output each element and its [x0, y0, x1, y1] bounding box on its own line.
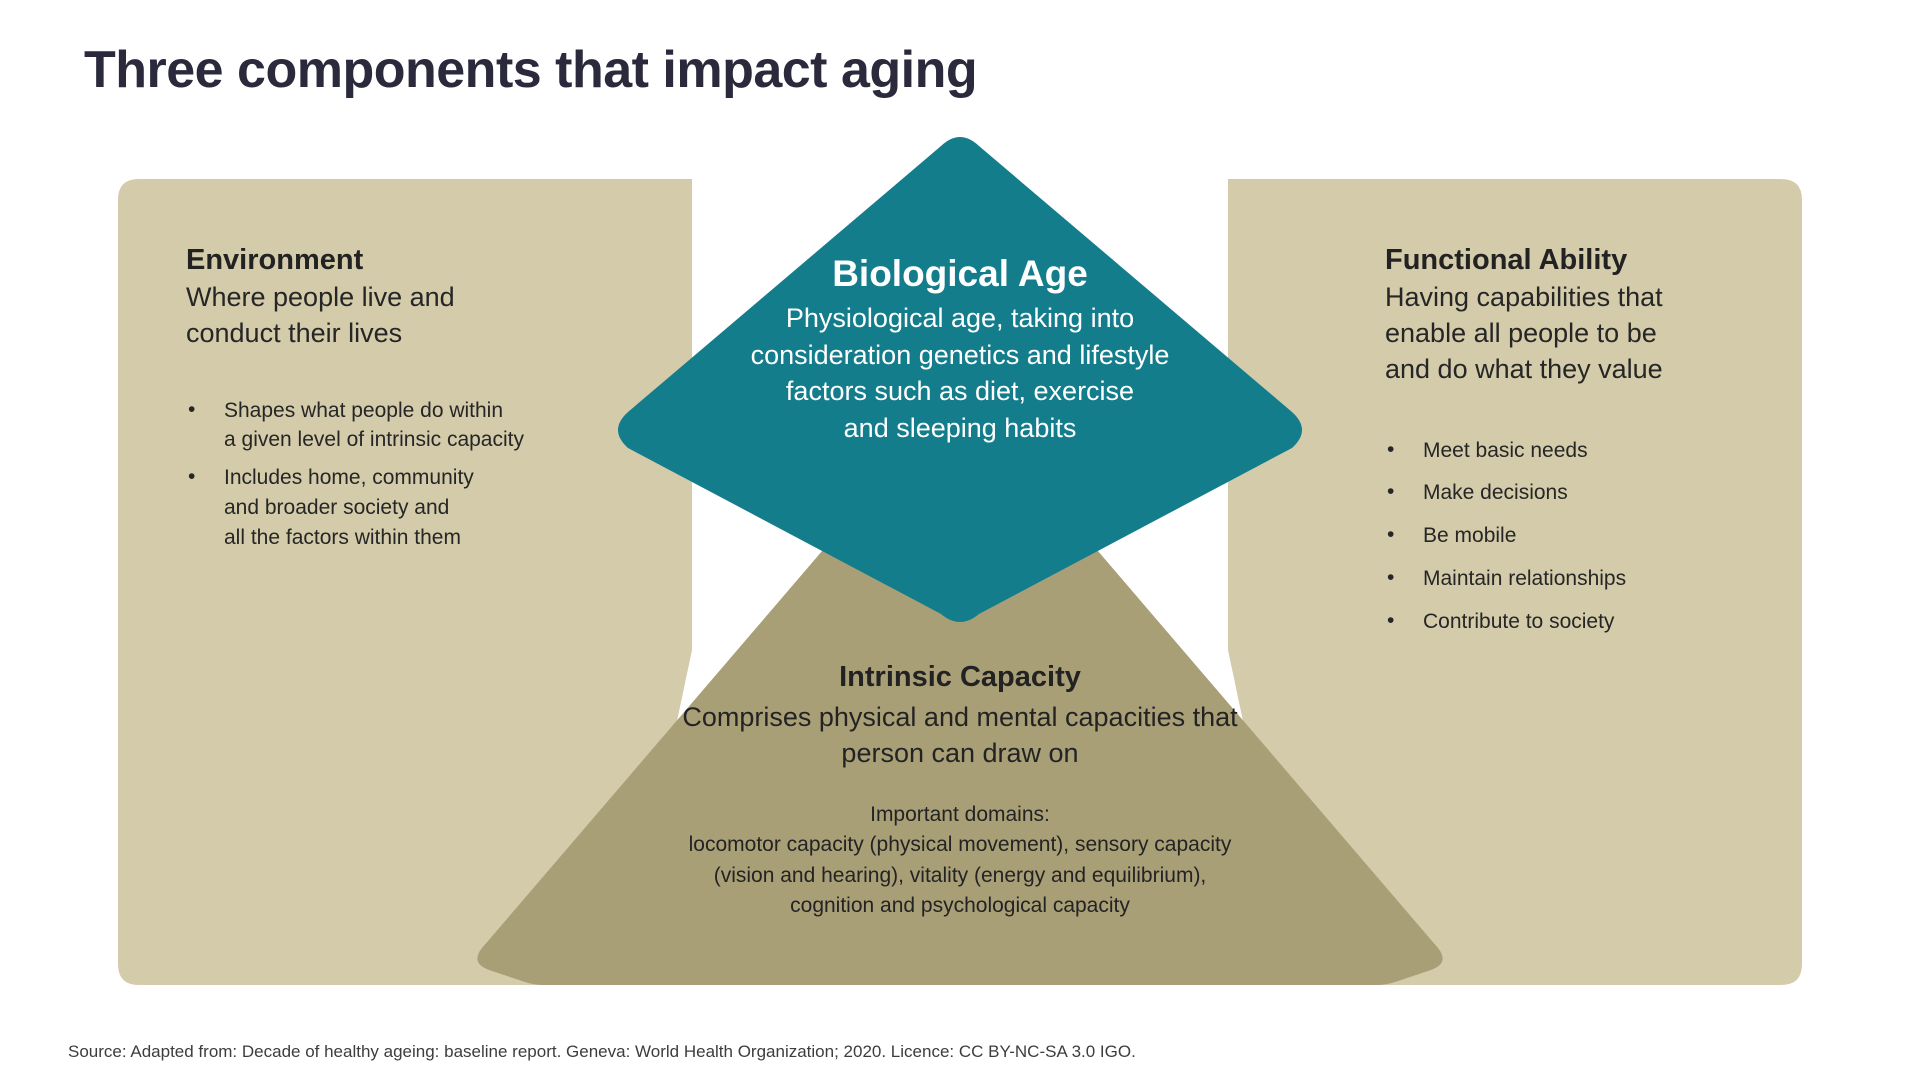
intrinsic-capacity-heading: Intrinsic Capacity [590, 660, 1330, 695]
source-note: Source: Adapted from: Decade of healthy … [68, 1042, 1136, 1062]
biological-age-description: Physiological age, taking into considera… [672, 300, 1248, 446]
list-item: Shapes what people do within a given lev… [186, 396, 606, 456]
list-item: Make decisions [1385, 478, 1785, 508]
list-item: Contribute to society [1385, 607, 1785, 637]
environment-subtitle: Where people live and conduct their live… [186, 280, 606, 352]
environment-heading: Environment [186, 243, 606, 278]
list-item: Meet basic needs [1385, 436, 1785, 466]
functional-ability-subtitle: Having capabilities that enable all peop… [1385, 280, 1785, 388]
functional-ability-bullet-list: Meet basic needs Make decisions Be mobil… [1385, 436, 1785, 637]
intrinsic-capacity-domains-body: locomotor capacity (physical movement), … [590, 830, 1330, 921]
intrinsic-capacity-domains-label: Important domains: [590, 800, 1330, 830]
functional-ability-heading: Functional Ability [1385, 243, 1785, 278]
list-item: Includes home, community and broader soc… [186, 463, 606, 552]
intrinsic-capacity-subtitle: Comprises physical and mental capacities… [590, 699, 1330, 772]
environment-panel: Environment Where people live and conduc… [186, 243, 606, 561]
functional-ability-panel: Functional Ability Having capabilities t… [1385, 243, 1785, 650]
biological-age-panel: Biological Age Physiological age, taking… [672, 252, 1248, 446]
biological-age-heading: Biological Age [672, 252, 1248, 296]
intrinsic-capacity-panel: Intrinsic Capacity Comprises physical an… [590, 660, 1330, 921]
list-item: Be mobile [1385, 521, 1785, 551]
environment-bullet-list: Shapes what people do within a given lev… [186, 396, 606, 553]
list-item: Maintain relationships [1385, 564, 1785, 594]
